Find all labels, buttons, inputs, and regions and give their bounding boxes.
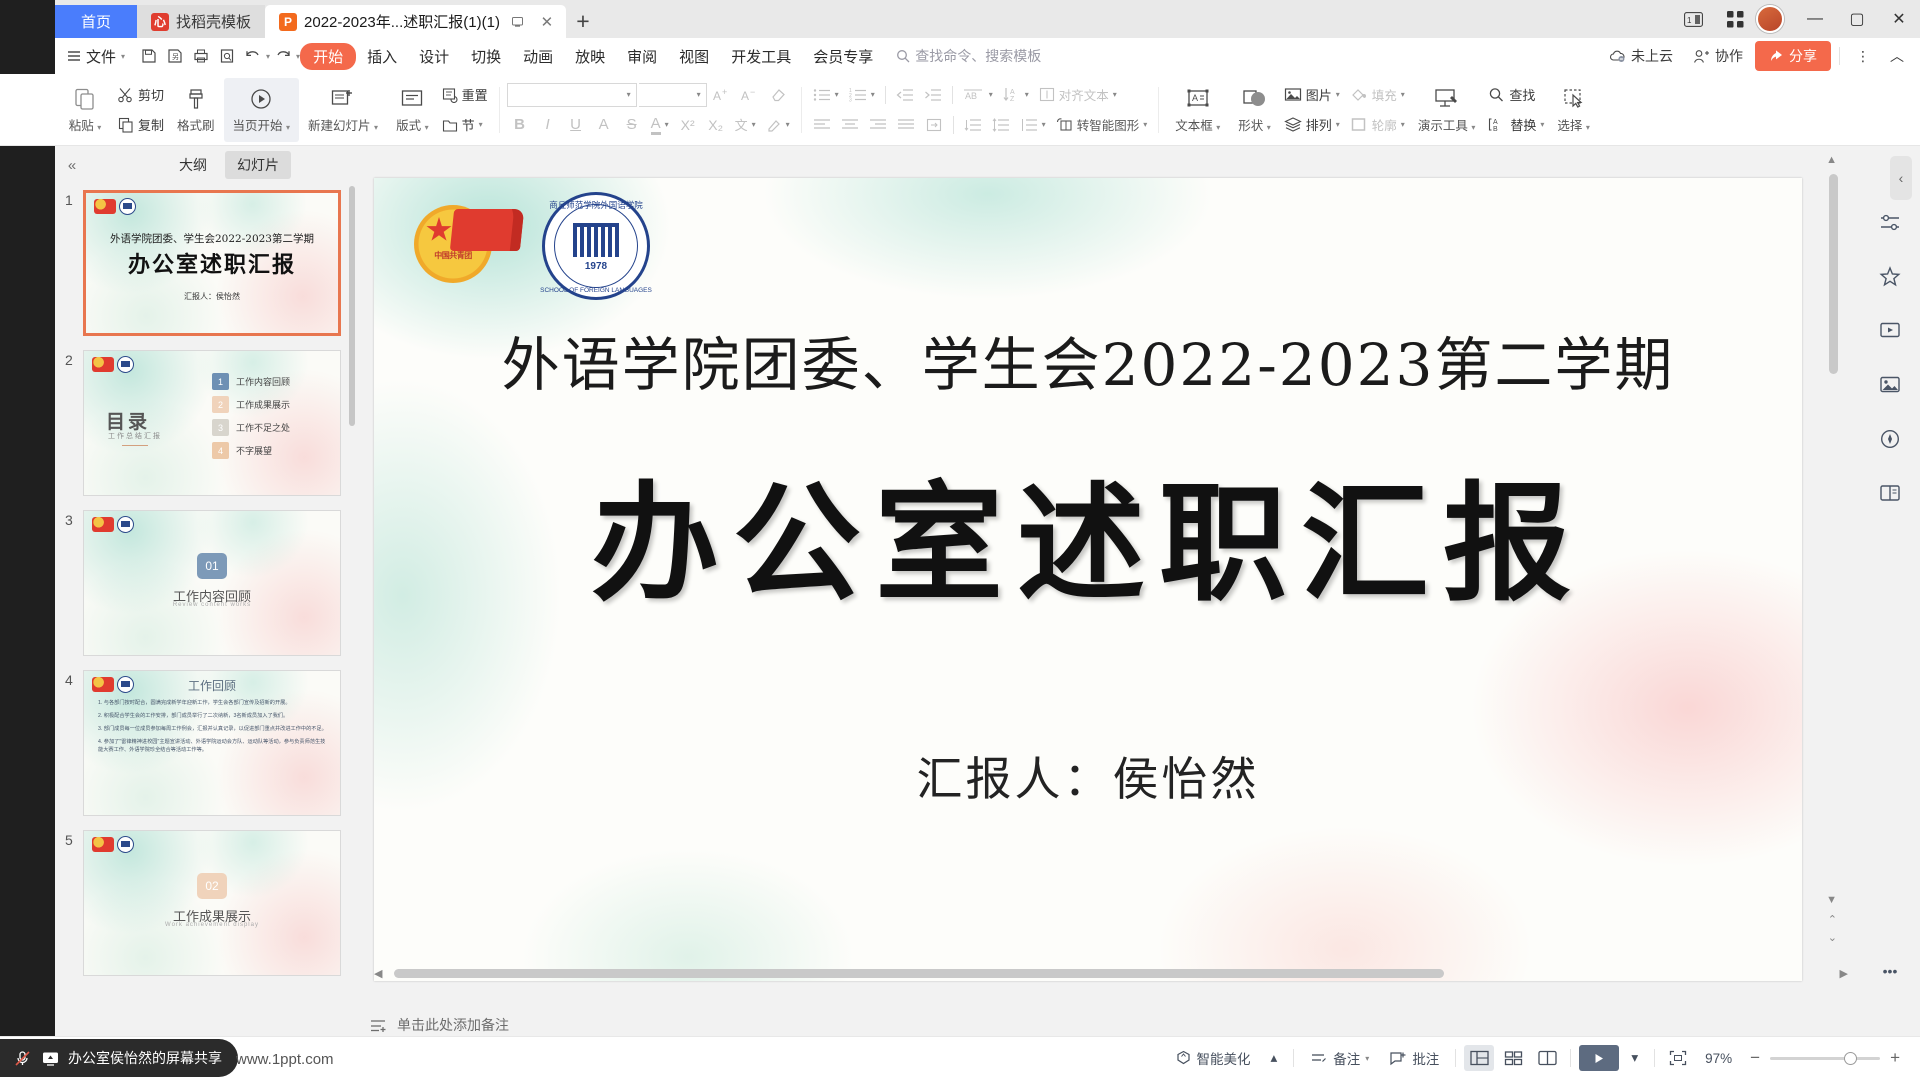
- ribbon-tab-start[interactable]: 开始: [300, 43, 356, 70]
- find-label: 查找: [1509, 85, 1535, 104]
- slide-number: 3: [65, 512, 73, 528]
- thumb4-line: 2. 积极配合学生会的工作安排，部门成员举行了二次纳新，3名新成员加入了我们。: [98, 712, 328, 720]
- minimize-icon[interactable]: —: [1794, 0, 1836, 38]
- text-shadow-button[interactable]: A: [591, 112, 617, 138]
- zoom-slider-handle[interactable]: [1844, 1052, 1857, 1065]
- file-menu-label: 文件: [86, 46, 116, 67]
- wps-presentation-window: 首页 心 找稻壳模板 P 2022-2023年...述职汇报(1)(1) ✕ +…: [0, 0, 1920, 1080]
- align-left-button[interactable]: [809, 112, 835, 138]
- align-center-button[interactable]: [837, 112, 863, 138]
- tab-home-label: 首页: [81, 11, 111, 32]
- new-slide-icon: [331, 86, 355, 112]
- location-icon[interactable]: [1873, 422, 1907, 456]
- divider: [1293, 1049, 1294, 1067]
- ribbon-tab-design[interactable]: 设计: [408, 43, 460, 70]
- tab-docer-label: 找稻壳模板: [176, 11, 251, 32]
- section-icon: [442, 117, 458, 133]
- numbering-button[interactable]: 123▾: [845, 82, 879, 108]
- comment-icon: [1389, 1051, 1407, 1066]
- university-seal-icon: [119, 198, 136, 215]
- slide-canvas[interactable]: 商丘师范学院外国语学院 1978 SCHOOL OF FOREIGN LANGU…: [374, 178, 1802, 981]
- thumb4-title: 工作回顾: [84, 677, 340, 694]
- zoom-out-button[interactable]: −: [1744, 1048, 1766, 1068]
- comment-button[interactable]: 批注: [1381, 1043, 1447, 1073]
- image-icon[interactable]: [1873, 368, 1907, 402]
- collab-icon: [1693, 49, 1710, 64]
- slide-canvas-area: 商丘师范学院外国语学院 1978 SCHOOL OF FOREIGN LANGU…: [370, 146, 1860, 996]
- select-button[interactable]: 选择 ▾: [1548, 78, 1599, 142]
- svg-text:A: A: [1192, 93, 1198, 103]
- ribbon-tab-devtools[interactable]: 开发工具: [720, 43, 802, 70]
- university-seal-icon: [117, 356, 134, 373]
- print-icon[interactable]: [188, 44, 214, 68]
- university-seal-logo: 商丘师范学院外国语学院 1978 SCHOOL OF FOREIGN LANGU…: [542, 192, 650, 300]
- align-text-button[interactable]: 对齐文本▾: [1035, 82, 1121, 108]
- print-preview-icon[interactable]: [214, 44, 240, 68]
- shrink-font-button[interactable]: A−: [737, 82, 763, 108]
- cloud-off-icon: [1609, 49, 1626, 63]
- svg-text:A: A: [713, 89, 721, 103]
- redo-icon[interactable]: [270, 44, 296, 68]
- share-button[interactable]: 分享: [1755, 41, 1831, 71]
- notes-placeholder-text: 单击此处添加备注: [397, 1015, 509, 1035]
- toc-number: 1: [212, 373, 229, 390]
- line-space-button[interactable]: ▾: [1016, 112, 1050, 138]
- distribute-button[interactable]: [921, 112, 947, 138]
- undo-icon[interactable]: [240, 44, 266, 68]
- font-name-select[interactable]: ▾: [507, 83, 637, 107]
- cloud-status-button[interactable]: 未上云: [1601, 42, 1681, 70]
- paragraph-group: ▾ 123▾ AB▾ AZ▾: [809, 78, 1152, 142]
- more-options-icon[interactable]: ⋮: [1848, 44, 1878, 69]
- svg-text:1: 1: [1687, 16, 1692, 25]
- university-seal-icon: [117, 516, 134, 533]
- tab-presentation[interactable]: P 2022-2023年...述职汇报(1)(1) ✕: [265, 5, 566, 38]
- command-search-placeholder: 查找命令、搜索模板: [915, 46, 1041, 66]
- reset-label: 重置: [462, 85, 488, 104]
- screen-share-label: 办公室侯怡然的屏幕共享: [68, 1048, 222, 1068]
- ccyl-flag-icon: [92, 357, 114, 372]
- slide-number: 1: [65, 192, 73, 208]
- align-right-button[interactable]: [865, 112, 891, 138]
- svg-text:A: A: [741, 89, 749, 103]
- section-label: 节: [462, 115, 475, 134]
- thumb1-title: 办公室述职汇报: [86, 247, 338, 279]
- ccyl-flag-icon: [94, 199, 116, 214]
- slide-thumbnail-list[interactable]: 1 外语学院团委、学生会2022-2023第二学期 办公室述职汇报 汇报人：侯怡…: [55, 184, 360, 1036]
- picture-label: 图片: [1306, 85, 1332, 104]
- slide-thumbnail-5[interactable]: 02 工作成果展示 Work achievement display: [83, 830, 341, 976]
- ribbon-tab-slideshow[interactable]: 放映: [564, 43, 616, 70]
- align-text-label: 对齐文本: [1059, 85, 1109, 104]
- zoom-in-button[interactable]: +: [1884, 1048, 1906, 1068]
- section-badge: 02: [197, 873, 227, 899]
- divider: [1839, 47, 1840, 65]
- slide-number: 5: [65, 832, 73, 848]
- ribbon-tab-transition[interactable]: 切换: [460, 43, 512, 70]
- slide-logos: [92, 516, 134, 533]
- shape-button[interactable]: 形状 ▾: [1229, 78, 1280, 142]
- tab-restore-icon[interactable]: [507, 11, 529, 33]
- left-sidebar-strip: [0, 146, 55, 1036]
- toc-number: 4: [212, 442, 229, 459]
- seal-bottom-text: SCHOOL OF FOREIGN LANGUAGES: [540, 287, 652, 294]
- collaborate-button[interactable]: 协作: [1685, 42, 1751, 70]
- font-color-button[interactable]: A▾: [647, 112, 673, 138]
- replace-label: 替换: [1510, 115, 1536, 134]
- marker-icon: [766, 117, 782, 133]
- university-seal-icon: [117, 836, 134, 853]
- svg-text:A: A: [1010, 89, 1015, 96]
- convert-to-smartart-label: 转智能图形: [1077, 115, 1140, 134]
- select-label: 选择 ▾: [1557, 115, 1590, 134]
- divider: [801, 87, 802, 133]
- increase-indent-button[interactable]: [920, 82, 946, 108]
- share-icon: [1769, 49, 1784, 63]
- thumbnail-row[interactable]: 2 目录 工作总结汇报 1工作内容回顾 2工作成果展示 3工作不足之处 4不字展…: [55, 344, 360, 504]
- bullets-button[interactable]: ▾: [809, 82, 843, 108]
- section-button[interactable]: 节 ▾: [438, 112, 487, 138]
- outline-button[interactable]: 轮廓▾: [1346, 112, 1409, 138]
- subscript-button[interactable]: X₂: [703, 112, 729, 138]
- search-icon: [1488, 87, 1505, 102]
- close-icon[interactable]: ✕: [1878, 0, 1920, 38]
- underline-button[interactable]: U: [563, 112, 589, 138]
- arrange-label: 排列: [1306, 115, 1332, 134]
- source-watermark: www.1ppt.com: [236, 1051, 334, 1068]
- reset-button[interactable]: 重置: [438, 82, 492, 108]
- presentation-icon[interactable]: [1873, 314, 1907, 348]
- font-group: ▾ ▾ A+ A− B I U A S: [507, 78, 794, 142]
- new-slide-button[interactable]: 新建幻灯片 ▾: [299, 78, 387, 142]
- status-bar: 办公室侯怡然的屏幕共享 www.1ppt.com 智能美化 ▴ 备注▾ 批注: [0, 1036, 1920, 1080]
- slide-thumbnail-3[interactable]: 01 工作内容回顾 Review content works: [83, 510, 341, 656]
- thumb4-line: 4. 参加了"雷锋精神进校园"主题宣讲活动、外语学院运动会方队、运动队等活动，参…: [98, 738, 328, 754]
- start-slideshow-button[interactable]: [1579, 1045, 1619, 1071]
- divider: [1158, 87, 1159, 133]
- svg-text:AB: AB: [965, 91, 977, 101]
- right-dock: •••: [1860, 146, 1920, 1036]
- star-icon[interactable]: [1873, 260, 1907, 294]
- tab-home[interactable]: 首页: [55, 5, 137, 38]
- menu-left-cap: [0, 38, 55, 74]
- thumb2-rule: [122, 445, 148, 446]
- layout-label: 版式 ▾: [396, 115, 429, 134]
- thumbnail-row[interactable]: 3 01 工作内容回顾 Review content works: [55, 504, 360, 664]
- mic-muted-icon[interactable]: [12, 1048, 32, 1068]
- copy-label: 复制: [138, 115, 164, 134]
- next-slide-icon[interactable]: ⌄: [1828, 931, 1837, 944]
- svg-text:3: 3: [849, 97, 852, 102]
- thumb4-line: 1. 与各部门按时配合，圆满完成新学年迎新工作，学生会各部门宣传及招新的开展。: [98, 699, 328, 707]
- ribbon-tab-review[interactable]: 审阅: [616, 43, 668, 70]
- zoom-slider[interactable]: [1770, 1057, 1880, 1060]
- add-note-icon: [370, 1018, 388, 1033]
- file-menu-button[interactable]: 文件 ▾: [55, 43, 136, 70]
- scissors-icon: [118, 87, 134, 103]
- status-bar-right: 智能美化 ▴ 备注▾ 批注: [1167, 1036, 1906, 1080]
- thumb1-presenter: 汇报人：侯怡然: [86, 291, 338, 302]
- canvas-vertical-scrollbar[interactable]: [1829, 174, 1838, 374]
- new-tab-button[interactable]: +: [566, 5, 600, 38]
- thumb2-title: 目录: [106, 407, 150, 434]
- toc-number: 2: [212, 396, 229, 413]
- highlight-button[interactable]: ▾: [762, 112, 794, 138]
- thumb4-line: 3. 部门成员每一位成员参加每周工作例会，汇报并认真记录，以促进部门重点并改进工…: [98, 725, 328, 733]
- picture-icon: [1284, 87, 1302, 102]
- toc-label: 工作成果展示: [236, 398, 290, 411]
- slide-thumbnail-4[interactable]: 工作回顾 1. 与各部门按时配合，圆满完成新学年迎新工作，学生会各部门宣传及招新…: [83, 670, 341, 816]
- replace-icon: AB: [1488, 117, 1506, 132]
- fill-icon: [1350, 87, 1368, 102]
- normal-view-button[interactable]: [1464, 1045, 1494, 1071]
- presentation-tools-icon: [1433, 86, 1461, 112]
- ccyl-flag-logo: [414, 203, 526, 283]
- grid-apps-icon[interactable]: [1714, 0, 1756, 38]
- start-from-current-slide-label: 当页开始 ▾: [233, 115, 291, 134]
- slide-number: 4: [65, 672, 73, 688]
- text-box-icon: A: [1185, 86, 1211, 112]
- svg-text:A: A: [1493, 119, 1498, 126]
- slide-subtitle[interactable]: 外语学院团委、学生会2022-2023第二学期: [374, 318, 1802, 402]
- text-box-label: 文本框 ▾: [1175, 115, 1220, 134]
- shape-icon: [1241, 86, 1267, 112]
- fill-label: 填充: [1372, 85, 1397, 104]
- command-search[interactable]: 查找命令、搜索模板: [896, 46, 1041, 66]
- paragraph-space-button[interactable]: [960, 112, 986, 138]
- scroll-right-icon[interactable]: ▶: [1840, 967, 1848, 980]
- slide-sorter-view-button[interactable]: [1498, 1045, 1528, 1071]
- seal-year: 1978: [585, 261, 607, 272]
- select-icon: [1561, 86, 1587, 112]
- ribbon-toolbar: 粘贴 ▾ 剪切 复制 格式刷: [0, 74, 1920, 146]
- slide-logos: [92, 836, 134, 853]
- work-area: « 大纲 幻灯片 1 外语学院团委、学生会2022-2023第二学期 办公室述职…: [0, 146, 1920, 1036]
- svg-text:Z: Z: [1010, 96, 1015, 102]
- dock-more-icon[interactable]: •••: [1873, 954, 1907, 988]
- clipboard-group: 剪切 复制: [114, 78, 168, 142]
- collapse-ribbon-icon[interactable]: ︿: [1882, 42, 1912, 70]
- ribbon-tab-animation[interactable]: 动画: [512, 43, 564, 70]
- decrease-indent-button[interactable]: [892, 82, 918, 108]
- slide-title[interactable]: 办公室述职汇报: [374, 440, 1802, 625]
- menu-bar-right: 未上云 协作 分享 ⋮ ︿: [1601, 38, 1912, 74]
- properties-icon[interactable]: [1873, 206, 1907, 240]
- divider: [1570, 1049, 1571, 1067]
- presentation-tools-label: 演示工具 ▾: [1418, 115, 1476, 134]
- bold-button[interactable]: B: [507, 112, 533, 138]
- cut-button[interactable]: 剪切: [114, 82, 168, 108]
- svg-text:+: +: [722, 87, 727, 97]
- window-left-cap: [0, 0, 55, 38]
- toc-label: 工作不足之处: [236, 421, 290, 434]
- grow-font-button[interactable]: A+: [709, 82, 735, 108]
- presentation-tools-button[interactable]: 演示工具 ▾: [1409, 78, 1485, 142]
- book-icon[interactable]: [1873, 476, 1907, 510]
- reset-icon: [442, 87, 458, 103]
- ribbon-tab-insert[interactable]: 插入: [356, 43, 408, 70]
- canvas-horizontal-scrollbar[interactable]: [394, 969, 1444, 978]
- ribbon-tab-view[interactable]: 视图: [668, 43, 720, 70]
- ribbon-tab-member[interactable]: 会员专享: [802, 43, 884, 70]
- slide-panel-header: « 大纲 幻灯片: [55, 146, 360, 184]
- arrange-button[interactable]: 排列▾: [1280, 112, 1344, 138]
- paste-icon: [74, 86, 96, 112]
- svg-text:−: −: [750, 87, 755, 97]
- fill-button[interactable]: 填充▾: [1346, 82, 1409, 108]
- slide-group: 重置 节 ▾: [438, 78, 492, 142]
- eraser-icon: [770, 87, 786, 103]
- outline-label: 轮廓: [1372, 115, 1397, 134]
- divider: [499, 87, 500, 133]
- previous-slide-icon[interactable]: ⌃: [1828, 913, 1837, 926]
- format-painter-icon: [185, 86, 207, 112]
- picture-button[interactable]: 图片▾: [1280, 82, 1344, 108]
- layout-icon: [400, 86, 424, 112]
- shape-label: 形状 ▾: [1238, 115, 1271, 134]
- pinyin-guide-button[interactable]: 文▾: [731, 112, 760, 138]
- slideshow-caret-icon[interactable]: ▾: [1623, 1045, 1646, 1071]
- line-space-a-button[interactable]: [988, 112, 1014, 138]
- slide-logos: [94, 198, 136, 215]
- expand-task-pane-icon[interactable]: ‹: [1890, 156, 1912, 200]
- thumb1-subtitle: 外语学院团委、学生会2022-2023第二学期: [86, 231, 338, 246]
- thumbnail-scrollbar[interactable]: [349, 186, 355, 426]
- insert-group: 图片▾ 填充▾ 排列▾ 轮廓▾: [1280, 78, 1409, 142]
- wpp-icon: P: [279, 13, 297, 31]
- page-layout-icon[interactable]: 1: [1672, 0, 1714, 38]
- replace-button[interactable]: AB 替换▾: [1484, 112, 1548, 138]
- docer-icon: 心: [151, 13, 169, 31]
- toc-label: 工作内容回顾: [236, 375, 290, 388]
- chevron-down-icon: ▾: [121, 52, 125, 61]
- ccyl-flag-icon: [92, 837, 114, 852]
- copy-button[interactable]: 复制: [114, 112, 168, 138]
- toc-label: 不字展望: [236, 444, 272, 457]
- svg-text:B: B: [1493, 126, 1498, 132]
- cloud-status-label: 未上云: [1631, 46, 1673, 66]
- seal-building: [573, 223, 619, 257]
- notes-toggle-button[interactable]: 备注▾: [1302, 1043, 1377, 1073]
- sort-button[interactable]: AZ▾: [999, 82, 1033, 108]
- collaborate-label: 协作: [1715, 46, 1743, 66]
- reading-view-button[interactable]: [1532, 1045, 1562, 1071]
- slide-logos: [92, 356, 134, 373]
- section-subtitle-en: Work achievement display: [84, 922, 340, 928]
- copy-icon: [118, 117, 134, 133]
- comment-label: 批注: [1412, 1048, 1439, 1068]
- slide-thumbnail-2[interactable]: 目录 工作总结汇报 1工作内容回顾 2工作成果展示 3工作不足之处 4不字展望: [83, 350, 341, 496]
- toc-number: 3: [212, 419, 229, 436]
- new-slide-label: 新建幻灯片 ▾: [308, 115, 378, 134]
- divider: [1654, 1049, 1655, 1067]
- tab-docer-template[interactable]: 心 找稻壳模板: [137, 5, 265, 38]
- convert-to-smartart-button[interactable]: 转智能图形▾: [1052, 112, 1152, 138]
- beautify-icon: [1175, 1050, 1192, 1066]
- svg-text:另: 另: [172, 53, 179, 61]
- arrange-icon: [1284, 117, 1302, 132]
- clear-format-button[interactable]: [765, 82, 791, 108]
- thumbnail-row[interactable]: 5 02 工作成果展示 Work achievement display: [55, 824, 360, 984]
- slide-presenter[interactable]: 汇报人：侯怡然: [374, 743, 1802, 809]
- tab-presentation-label: 2022-2023年...述职汇报(1)(1): [304, 11, 500, 32]
- slide-number: 2: [65, 352, 73, 368]
- window-controls: 1 — ▢ ✕: [1672, 0, 1920, 38]
- zoom-level-label[interactable]: 97%: [1697, 1046, 1740, 1071]
- font-size-select[interactable]: ▾: [639, 83, 707, 107]
- share-label: 分享: [1789, 46, 1817, 66]
- screen-share-icon[interactable]: [40, 1048, 60, 1068]
- fit-to-window-button[interactable]: [1663, 1045, 1693, 1071]
- find-button[interactable]: 查找: [1484, 82, 1539, 108]
- screen-share-indicator[interactable]: 办公室侯怡然的屏幕共享: [0, 1039, 238, 1077]
- search-icon: [896, 49, 910, 63]
- maximize-icon[interactable]: ▢: [1836, 0, 1878, 38]
- smart-beautify-label: 智能美化: [1197, 1048, 1251, 1068]
- ccyl-book: [450, 209, 524, 251]
- beautify-caret-icon[interactable]: ▴: [1263, 1045, 1286, 1071]
- paste-button[interactable]: 粘贴 ▾: [56, 78, 114, 142]
- save-icon[interactable]: [136, 44, 162, 68]
- seal-top-text: 商丘师范学院外国语学院: [549, 199, 643, 211]
- thumbnail-row[interactable]: 4 工作回顾 1. 与各部门按时配合，圆满完成新学年迎新工作，学生会各部门宣传及…: [55, 664, 360, 824]
- format-painter-button[interactable]: 格式刷: [168, 78, 224, 142]
- layout-button[interactable]: 版式 ▾: [387, 78, 438, 142]
- tab-outline[interactable]: 大纲: [167, 151, 219, 179]
- notes-icon: [1310, 1051, 1328, 1066]
- text-direction-button[interactable]: AB▾: [959, 82, 997, 108]
- superscript-button[interactable]: X²: [675, 112, 701, 138]
- start-from-current-slide-button[interactable]: 当页开始 ▾: [224, 78, 300, 142]
- notes-toggle-label: 备注: [1333, 1048, 1360, 1068]
- italic-button[interactable]: I: [535, 112, 561, 138]
- paste-label: 粘贴 ▾: [69, 115, 102, 134]
- ccyl-flag-icon: [92, 517, 114, 532]
- thumbnail-row[interactable]: 1 外语学院团委、学生会2022-2023第二学期 办公室述职汇报 汇报人：侯怡…: [55, 184, 360, 344]
- thumb2-toc: 1工作内容回顾 2工作成果展示 3工作不足之处 4不字展望: [212, 373, 290, 459]
- scroll-down-icon[interactable]: ▼: [1826, 894, 1837, 906]
- tab-bar: 首页 心 找稻壳模板 P 2022-2023年...述职汇报(1)(1) ✕ +…: [0, 0, 1920, 38]
- smartart-icon: [1056, 117, 1073, 132]
- format-painter-label: 格式刷: [177, 115, 215, 134]
- collapse-panel-icon[interactable]: «: [55, 157, 89, 174]
- section-badge: 01: [197, 553, 227, 579]
- tab-close-icon[interactable]: ✕: [536, 11, 558, 33]
- scroll-left-icon[interactable]: ◀: [374, 967, 382, 980]
- save-as-icon[interactable]: 另: [162, 44, 188, 68]
- tab-slides[interactable]: 幻灯片: [225, 151, 291, 179]
- editing-group: 查找 AB 替换▾: [1484, 78, 1548, 142]
- user-avatar[interactable]: [1756, 5, 1784, 33]
- scroll-up-icon[interactable]: ▲: [1826, 154, 1837, 166]
- text-box-button[interactable]: A 文本框 ▾: [1166, 78, 1229, 142]
- slide-thumbnail-1[interactable]: 外语学院团委、学生会2022-2023第二学期 办公室述职汇报 汇报人：侯怡然: [83, 190, 341, 336]
- play-circle-icon: [249, 86, 273, 112]
- divider: [1455, 1049, 1456, 1067]
- thumb2-subtitle: 工作总结汇报: [108, 431, 162, 441]
- outline-icon: [1350, 117, 1368, 132]
- justify-button[interactable]: [893, 112, 919, 138]
- section-subtitle-en: Review content works: [84, 602, 340, 608]
- cut-label: 剪切: [138, 85, 164, 104]
- strikethrough-button[interactable]: S: [619, 112, 645, 138]
- smart-beautify-button[interactable]: 智能美化: [1167, 1043, 1259, 1073]
